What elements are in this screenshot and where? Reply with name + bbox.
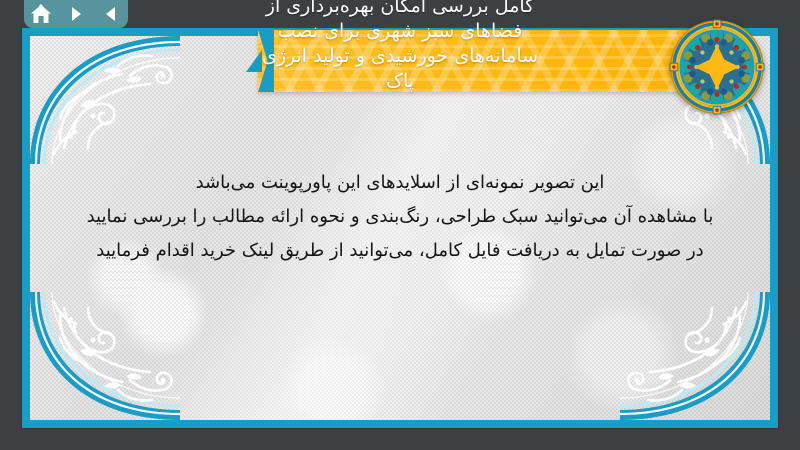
slide-preview-stage: این تصویر نمونه‌ای از اسلایدهای این پاور… — [0, 0, 800, 450]
title-banner — [258, 30, 692, 92]
home-button[interactable] — [28, 3, 54, 25]
home-icon — [30, 4, 52, 24]
halftone-texture — [30, 36, 770, 420]
diagonal-sheen — [30, 36, 770, 420]
prev-button[interactable] — [98, 3, 124, 25]
app-header-bar — [0, 0, 800, 28]
slide-canvas — [30, 36, 770, 420]
navigation-controls[interactable] — [24, 0, 128, 28]
next-button[interactable] — [63, 3, 89, 25]
triangle-left-icon — [102, 5, 120, 23]
triangle-right-icon — [67, 5, 85, 23]
